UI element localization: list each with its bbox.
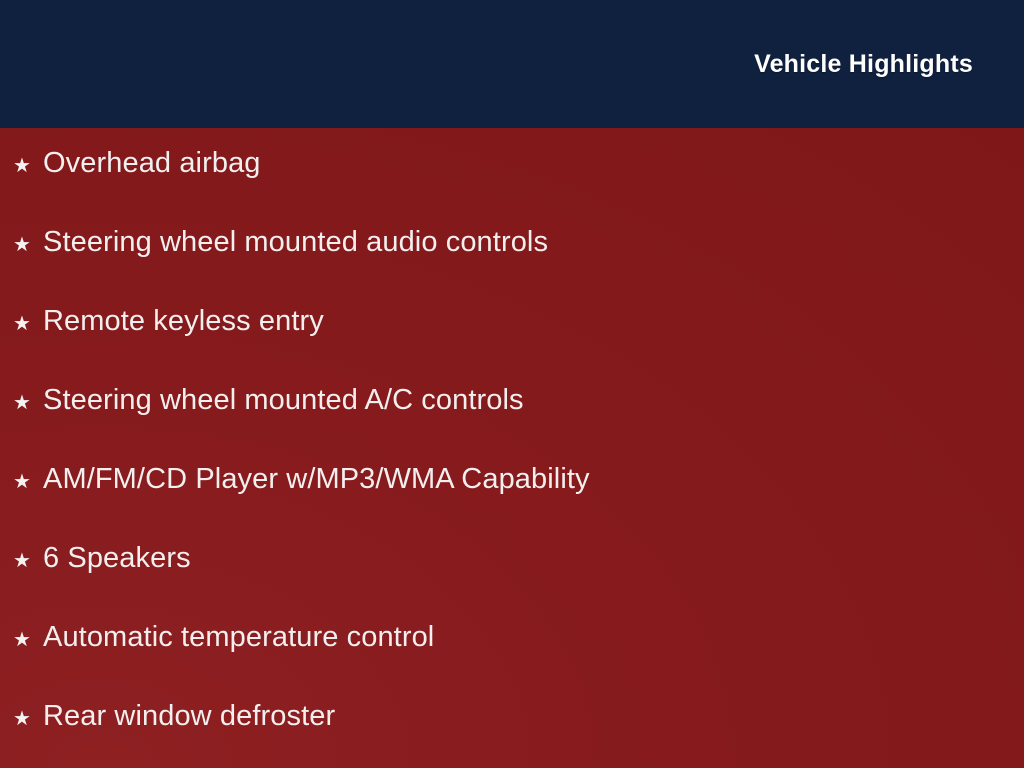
list-item: ★ Steering wheel mounted audio controls <box>0 227 1024 306</box>
list-item-label: 6 Speakers <box>43 543 191 573</box>
list-item-label: Steering wheel mounted A/C controls <box>43 385 524 415</box>
star-icon: ★ <box>13 151 43 181</box>
star-icon: ★ <box>13 625 43 655</box>
star-icon: ★ <box>13 546 43 576</box>
star-icon: ★ <box>13 388 43 418</box>
star-icon: ★ <box>13 230 43 260</box>
list-item-label: AM/FM/CD Player w/MP3/WMA Capability <box>43 464 590 494</box>
star-icon: ★ <box>13 309 43 339</box>
list-item: ★ Steering wheel mounted A/C controls <box>0 385 1024 464</box>
list-item-label: Steering wheel mounted audio controls <box>43 227 548 257</box>
list-item: ★ Rear window defroster <box>0 701 1024 768</box>
slide-header: Vehicle Highlights <box>0 0 1024 128</box>
list-item: ★ Automatic temperature control <box>0 622 1024 701</box>
list-item: ★ AM/FM/CD Player w/MP3/WMA Capability <box>0 464 1024 543</box>
star-icon: ★ <box>13 467 43 497</box>
list-item-label: Rear window defroster <box>43 701 335 731</box>
slide-canvas: Vehicle Highlights ★ Overhead airbag ★ S… <box>0 0 1024 768</box>
page-title: Vehicle Highlights <box>754 52 973 77</box>
vehicle-highlights-list: ★ Overhead airbag ★ Steering wheel mount… <box>0 128 1024 768</box>
list-item-label: Automatic temperature control <box>43 622 434 652</box>
list-item-label: Overhead airbag <box>43 148 261 178</box>
list-item: ★ 6 Speakers <box>0 543 1024 622</box>
star-icon: ★ <box>13 704 43 734</box>
list-item-label: Remote keyless entry <box>43 306 324 336</box>
list-item: ★ Remote keyless entry <box>0 306 1024 385</box>
list-item: ★ Overhead airbag <box>0 148 1024 227</box>
